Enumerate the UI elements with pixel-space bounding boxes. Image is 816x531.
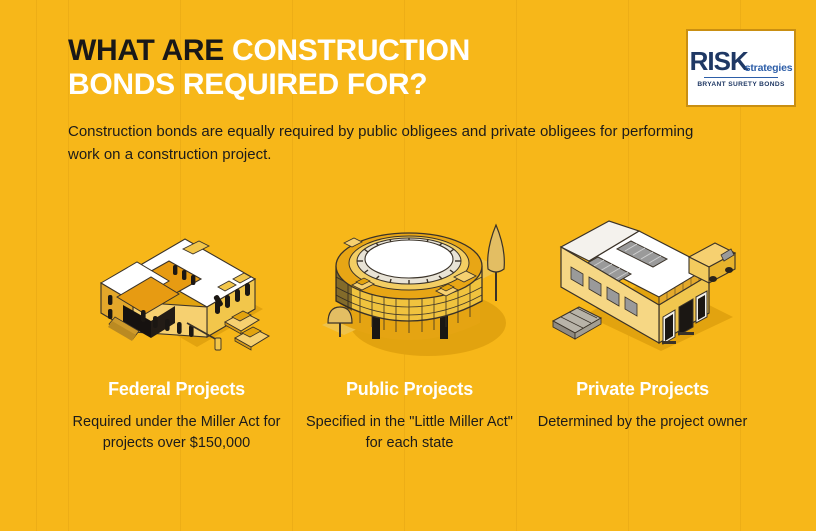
project-type-columns: Federal Projects Required under the Mill… xyxy=(60,205,760,454)
logo-brand-suffix: strategies xyxy=(745,63,793,74)
column-description-federal: Required under the Miller Act for projec… xyxy=(69,412,284,454)
public-stadium-illustration xyxy=(310,205,510,365)
federal-courthouse-illustration xyxy=(77,205,277,365)
column-title-private: Private Projects xyxy=(576,379,709,400)
private-warehouse-illustration xyxy=(543,205,743,365)
page-subtitle: Construction bonds are equally required … xyxy=(68,120,708,167)
column-private-projects: Private Projects Determined by the proje… xyxy=(526,205,759,454)
column-description-public: Specified in the "Little Miller Act" for… xyxy=(302,412,517,454)
logo-brand-text: RISK xyxy=(690,48,748,74)
page-title: WHAT ARE CONSTRUCTION BONDS REQUIRED FOR… xyxy=(68,34,538,102)
column-federal-projects: Federal Projects Required under the Mill… xyxy=(60,205,293,454)
column-title-public: Public Projects xyxy=(346,379,473,400)
page-title-lead: WHAT ARE xyxy=(68,34,232,67)
brand-logo[interactable]: RISK strategies BRYANT SURETY BONDS xyxy=(686,29,796,107)
logo-divider xyxy=(704,77,778,78)
header: WHAT ARE CONSTRUCTION BONDS REQUIRED FOR… xyxy=(68,34,758,102)
logo-wordmark: RISK strategies xyxy=(690,48,793,74)
column-title-federal: Federal Projects xyxy=(108,379,245,400)
logo-tagline: BRYANT SURETY BONDS xyxy=(697,81,784,88)
column-description-private: Determined by the project owner xyxy=(538,412,748,433)
column-public-projects: Public Projects Specified in the "Little… xyxy=(293,205,526,454)
infographic-canvas: WHAT ARE CONSTRUCTION BONDS REQUIRED FOR… xyxy=(0,0,816,531)
